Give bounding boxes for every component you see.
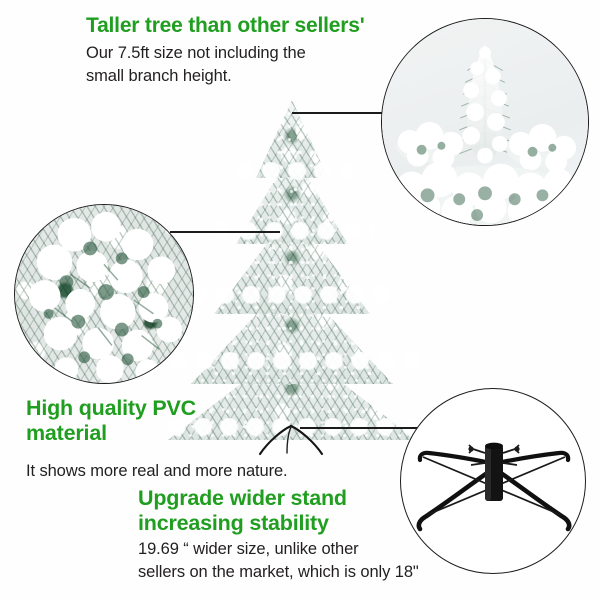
headline-taller-tree: Taller tree than other sellers' (86, 14, 365, 39)
headline-wider-stand: Upgrade wider stand increasing stability (138, 486, 347, 537)
tree-bough-row (165, 352, 419, 374)
christmas-tree-image (168, 100, 416, 435)
callout-circle-tree-top (381, 18, 589, 226)
callout-circle-stand (400, 388, 586, 574)
tree-bough-row (232, 162, 352, 184)
tree-bough-row (209, 222, 375, 244)
callout-foliage-image (15, 205, 193, 383)
headline-pvc-material: High quality PVC material (26, 396, 196, 447)
tree-stand-illustration (401, 389, 586, 574)
callout-top-image (382, 19, 588, 225)
body-pvc-material: It shows more real and more nature. (26, 460, 288, 483)
infographic-canvas: Taller tree than other sellers' Our 7.5f… (0, 0, 600, 600)
body-taller-tree: Our 7.5ft size not including the small b… (86, 42, 306, 88)
callout-circle-foliage (14, 204, 194, 384)
flock-clumps (15, 205, 193, 383)
tree-bough-row (186, 286, 398, 308)
body-wider-stand: 19.69 “ wider size, unlike other sellers… (138, 538, 419, 584)
tree-stand-legs (252, 424, 330, 456)
branch-tip-illustration (382, 19, 588, 225)
